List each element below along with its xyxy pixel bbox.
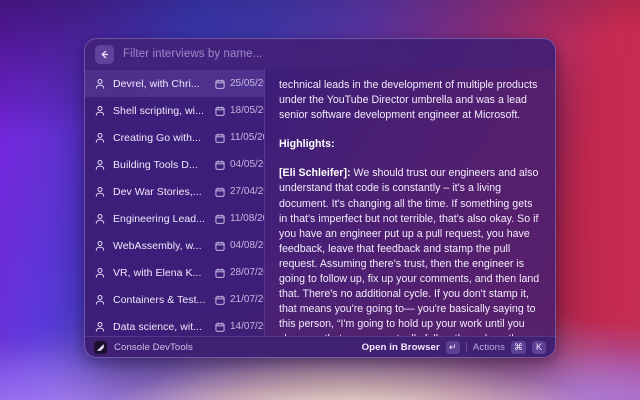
transcript-content[interactable]: technical leads in the development of mu… [265,69,555,336]
calendar-icon [213,212,226,225]
person-icon [93,185,106,198]
calendar-icon [213,104,226,117]
window-body: Devrel, with Chri...25/05/20...Shell scr… [85,69,555,336]
list-item[interactable]: Containers & Test...21/07/20... [85,286,264,313]
calendar-icon [213,158,226,171]
calendar-icon [213,239,226,252]
calendar-icon [213,320,226,333]
window-footer: Console DevTools Open in Browser ↵ Actio… [85,336,555,357]
person-icon [93,266,106,279]
back-button[interactable] [95,45,114,64]
highlights-heading: Highlights: [279,137,541,152]
list-item-date: 04/08/20... [213,239,265,252]
list-item[interactable]: WebAssembly, w...04/08/20... [85,232,264,259]
calendar-icon [213,77,226,90]
list-item-date-text: 18/05/20... [230,105,265,116]
person-icon [94,267,106,279]
person-icon [93,212,106,225]
list-item[interactable]: Creating Go with...11/05/20... [85,124,264,151]
quote-body-text: We should trust our engineers and also u… [279,167,539,336]
list-item-date: 11/08/20... [213,212,265,225]
calendar-icon [215,160,225,170]
person-icon [94,213,106,225]
app-name-label: Console DevTools [114,342,193,353]
person-icon [93,239,106,252]
person-icon [94,105,106,117]
calendar-icon [215,241,225,251]
window-header [85,39,555,69]
calendar-icon [215,79,225,89]
person-icon [93,320,106,333]
transcript-intro-paragraph: technical leads in the development of mu… [279,78,541,123]
quote-paragraph: [Eli Schleifer]: We should trust our eng… [279,166,541,336]
list-item-title: Containers & Test... [113,294,206,306]
list-item-date-text: 27/04/20... [230,186,265,197]
list-item[interactable]: Shell scripting, wi...18/05/20... [85,97,264,124]
person-icon [94,294,106,306]
desktop-background: Devrel, with Chri...25/05/20...Shell scr… [0,0,640,400]
open-in-browser-label[interactable]: Open in Browser [362,342,440,353]
list-item[interactable]: VR, with Elena K...28/07/20... [85,259,264,286]
list-item-date: 21/07/20... [213,293,265,306]
k-key-badge[interactable]: K [532,341,546,354]
list-item-date-text: 11/08/20... [230,213,265,224]
footer-divider [466,342,467,352]
list-item-title: Devrel, with Chri... [113,78,206,90]
calendar-icon [213,131,226,144]
list-item-date-text: 25/05/20... [230,78,265,89]
list-item-date-text: 11/05/20... [230,132,265,143]
list-item-date-text: 28/07/20... [230,267,265,278]
return-key-badge[interactable]: ↵ [446,341,460,354]
list-item-title: WebAssembly, w... [113,240,206,252]
list-item-date: 28/07/20... [213,266,265,279]
highlights-heading-text: Highlights: [279,138,335,150]
person-icon [94,240,106,252]
calendar-icon [215,295,225,305]
list-item-title: Building Tools D... [113,159,206,171]
app-window: Devrel, with Chri...25/05/20...Shell scr… [84,38,556,358]
calendar-icon [213,266,226,279]
person-icon [94,132,106,144]
list-item-date: 27/04/20... [213,185,265,198]
list-item-date: 04/05/20... [213,158,265,171]
calendar-icon [215,268,225,278]
person-icon [94,321,106,333]
search-input[interactable] [123,48,545,60]
list-item-date-text: 14/07/20... [230,321,265,332]
list-item-title: Dev War Stories,... [113,186,206,198]
person-icon [93,293,106,306]
logo-glyph-icon [96,343,105,352]
list-item[interactable]: Dev War Stories,...27/04/20... [85,178,264,205]
list-item-date: 11/05/20... [213,131,265,144]
calendar-icon [213,293,226,306]
list-item-date-text: 21/07/20... [230,294,265,305]
list-item[interactable]: Building Tools D...04/05/20... [85,151,264,178]
list-item[interactable]: Data science, wit...14/07/20... [85,313,264,336]
arrow-left-icon [99,49,110,60]
interview-list[interactable]: Devrel, with Chri...25/05/20...Shell scr… [85,69,265,336]
person-icon [94,78,106,90]
list-item-date-text: 04/05/20... [230,159,265,170]
person-icon [93,104,106,117]
footer-actions: Open in Browser ↵ Actions ⌘ K [362,341,546,354]
list-item-date-text: 04/08/20... [230,240,265,251]
list-item[interactable]: Engineering Lead...11/08/20... [85,205,264,232]
console-devtools-logo-icon [94,341,107,354]
list-item-title: Data science, wit... [113,321,206,333]
list-item-date: 14/07/20... [213,320,265,333]
command-key-badge[interactable]: ⌘ [511,341,526,354]
calendar-icon [213,185,226,198]
list-item-title: Creating Go with... [113,132,206,144]
list-item-title: Engineering Lead... [113,213,206,225]
person-icon [93,131,106,144]
list-item-date: 18/05/20... [213,104,265,117]
list-item-date: 25/05/20... [213,77,265,90]
list-item-title: VR, with Elena K... [113,267,206,279]
quote-speaker-name: [Eli Schleifer]: [279,167,351,179]
person-icon [93,158,106,171]
list-item[interactable]: Devrel, with Chri...25/05/20... [85,70,264,97]
calendar-icon [215,106,225,116]
list-item-title: Shell scripting, wi... [113,105,206,117]
calendar-icon [215,214,225,224]
person-icon [94,159,106,171]
calendar-icon [215,187,225,197]
calendar-icon [215,322,225,332]
person-icon [94,186,106,198]
person-icon [93,77,106,90]
actions-label[interactable]: Actions [473,342,505,353]
calendar-icon [215,133,225,143]
